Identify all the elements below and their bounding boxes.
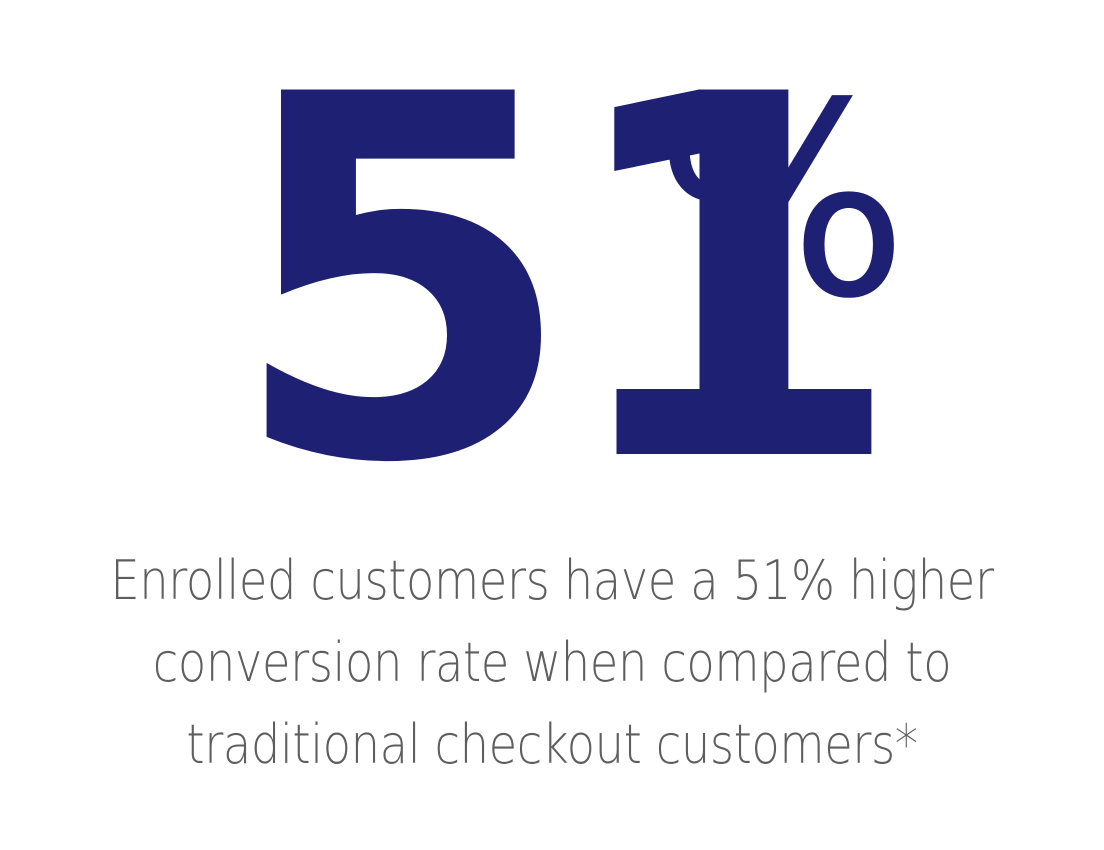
stat-block: 51 % xyxy=(0,0,1104,510)
caption-block: Enrolled customers have a 51% higher con… xyxy=(0,540,1104,786)
stat-callout-slide: 51 % Enrolled customers have a 51% highe… xyxy=(0,0,1104,850)
stat-graphic: 51 % xyxy=(202,36,902,506)
stat-percent-sign: % xyxy=(654,46,909,358)
stat-figure: 51 % xyxy=(202,36,902,506)
caption-line-2: conversion rate when compared to xyxy=(77,622,1026,704)
caption-line-3: traditional checkout customers* xyxy=(77,704,1026,786)
caption-line-1: Enrolled customers have a 51% higher xyxy=(77,540,1026,622)
